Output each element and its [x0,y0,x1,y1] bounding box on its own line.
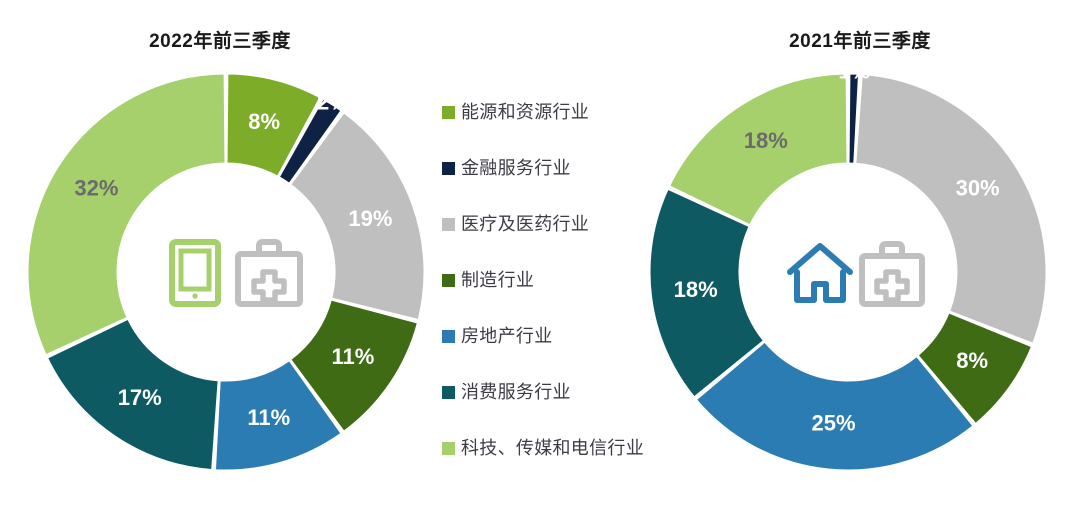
slice-label: 11% [332,344,375,369]
slice-label: 11% [247,405,290,430]
slice-label: 18% [674,277,718,302]
donut-svg-right: 1%30%8%25%18%18% [642,66,1054,478]
legend-label-energy: 能源和资源行业 [461,103,589,121]
donut-svg-left: 8%2%19%11%11%17%32% [20,66,432,478]
donut-chart-2022: 8%2%19%11%11%17%32% [20,66,432,478]
legend-label-healthcare: 医疗及医药行业 [461,215,589,233]
chart-page: 2022年前三季度 2021年前三季度 8%2%19%11%11%17%32% [0,0,1080,512]
donut-chart-2021: 1%30%8%25%18%18% [642,66,1054,478]
legend-item-healthcare[interactable]: 医疗及医药行业 [442,196,672,252]
slice-label: 8% [248,109,280,134]
center-icons-left [172,242,300,304]
legend-label-manufacturing: 制造行业 [461,271,534,289]
page-title-right: 2021年前三季度 [640,26,1080,53]
tablet-device-icon [172,242,218,304]
pie-slice[interactable] [28,74,225,355]
page-title-left: 2022年前三季度 [0,26,440,53]
legend-swatch-manufacturing [442,274,455,287]
legend-item-realestate[interactable]: 房地产行业 [442,308,672,364]
legend-swatch-financial [442,162,455,175]
slice-label: 32% [74,176,118,201]
legend-swatch-realestate [442,330,455,343]
legend-label-realestate: 房地产行业 [461,327,553,345]
legend-label-tmt: 科技、传媒和电信行业 [461,439,644,457]
slice-label: 30% [956,176,1000,201]
house-icon [790,246,850,300]
slices-left [28,74,424,470]
pie-slice[interactable] [856,75,1046,344]
legend-swatch-healthcare [442,218,455,231]
center-icons-right [790,244,922,304]
legend-label-financial: 金融服务行业 [461,159,571,177]
slice-label: 18% [744,128,788,153]
legend-swatch-consumer [442,386,455,399]
medical-briefcase-icon [238,242,300,304]
legend-item-financial[interactable]: 金融服务行业 [442,140,672,196]
legend-item-energy[interactable]: 能源和资源行业 [442,84,672,140]
legend-item-tmt[interactable]: 科技、传媒和电信行业 [442,420,672,476]
legend-item-consumer[interactable]: 消费服务行业 [442,364,672,420]
legend: 能源和资源行业 金融服务行业 医疗及医药行业 制造行业 房地产行业 消费服务行业… [442,84,672,476]
legend-item-manufacturing[interactable]: 制造行业 [442,252,672,308]
slice-label: 2% [317,89,349,114]
slice-label: 17% [118,385,162,410]
slice-label: 25% [812,411,856,436]
slice-label: 8% [956,348,988,373]
medical-briefcase-icon [862,244,922,304]
legend-swatch-energy [442,106,455,119]
legend-label-consumer: 消费服务行业 [461,383,571,401]
slice-label: 19% [348,206,392,231]
legend-swatch-tmt [442,442,455,455]
slice-label: 1% [838,66,870,83]
